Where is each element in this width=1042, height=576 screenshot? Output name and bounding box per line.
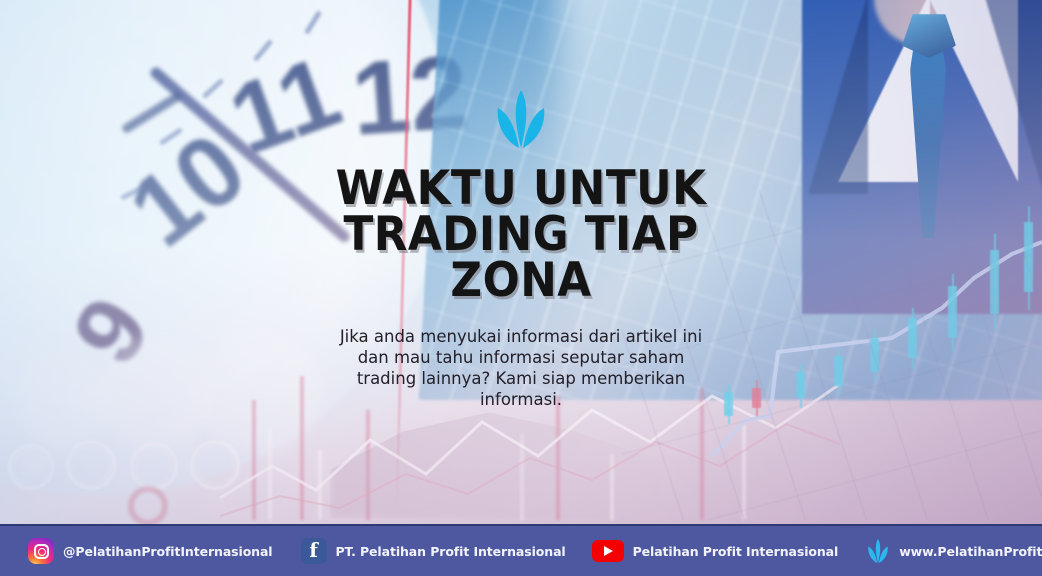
lotus-icon xyxy=(488,88,554,150)
youtube-channel-label: Pelatihan Profit Internasional xyxy=(633,544,839,559)
facebook-page-label: PT. Pelatihan Profit Internasional xyxy=(336,544,566,559)
website-lotus-icon xyxy=(864,538,892,564)
headline-line-3: ZONA xyxy=(316,258,725,304)
promotional-banner: 12 11 10 9 xyxy=(0,0,1042,576)
instagram-icon xyxy=(28,538,54,564)
social-item-website[interactable]: www.PelatihanProfitInternasional.com xyxy=(864,526,1042,576)
social-item-youtube[interactable]: Pelatihan Profit Internasional xyxy=(592,526,839,576)
facebook-icon: f xyxy=(301,538,327,564)
subtitle-text: Jika anda menyukai informasi dari artike… xyxy=(331,326,711,410)
website-url-label: www.PelatihanProfitInternasional.com xyxy=(899,544,1042,559)
youtube-icon xyxy=(592,540,624,562)
social-item-facebook[interactable]: f PT. Pelatihan Profit Internasional xyxy=(301,526,566,576)
banner-content: WAKTU UNTUK TRADING TIAP ZONA Jika anda … xyxy=(0,0,1042,524)
instagram-handle-label: @PelatihanProfitInternasional xyxy=(63,544,273,559)
social-item-instagram[interactable]: @PelatihanProfitInternasional xyxy=(28,526,273,576)
page-title: WAKTU UNTUK TRADING TIAP ZONA xyxy=(316,166,725,304)
social-footer-bar: @PelatihanProfitInternasional f PT. Pela… xyxy=(0,524,1042,576)
headline-line-2: TRADING TIAP xyxy=(316,212,725,258)
headline-line-1: WAKTU UNTUK xyxy=(316,166,725,212)
